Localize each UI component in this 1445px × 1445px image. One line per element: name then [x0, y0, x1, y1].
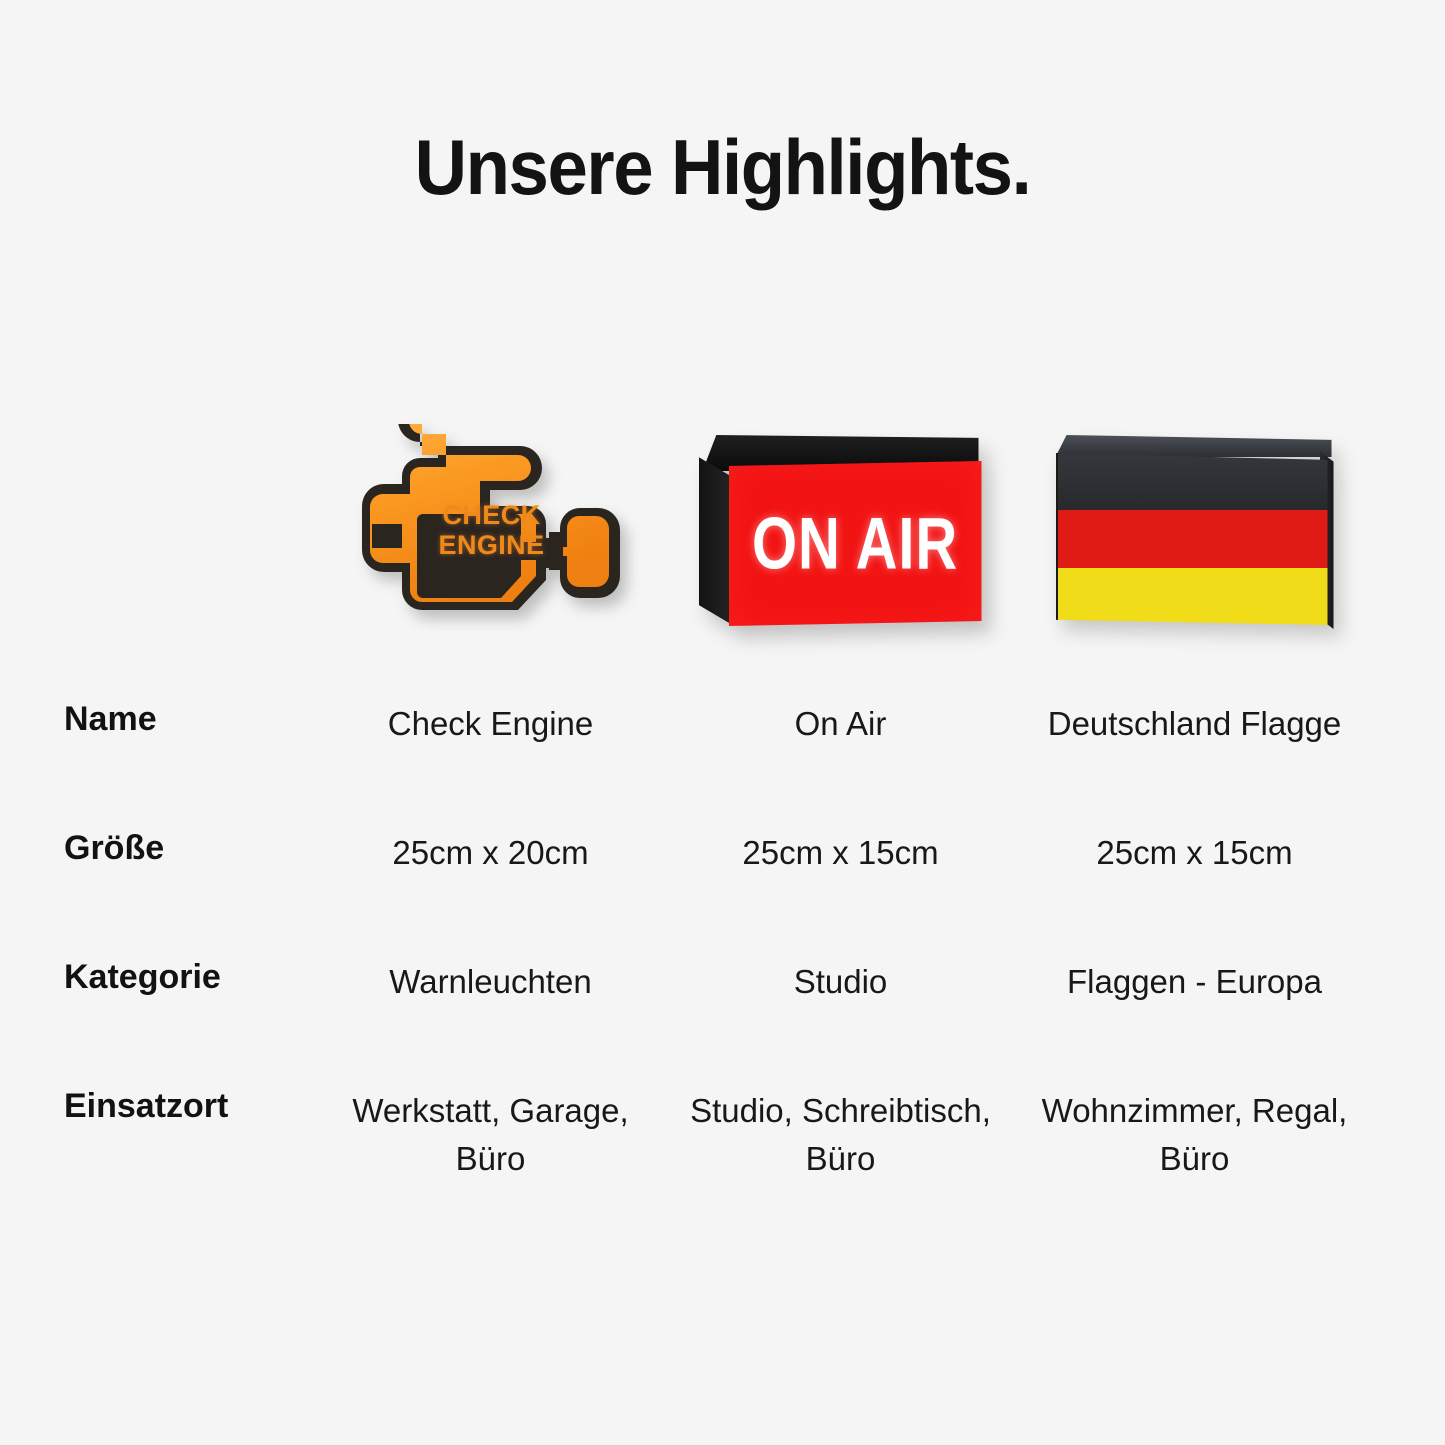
cell-groesse-on-air: 25cm x 15cm [668, 829, 1013, 877]
product-image-check-engine[interactable]: CHECK ENGINE [318, 410, 663, 660]
cell-einsatzort-check-engine: Werkstatt, Garage, Büro [318, 1087, 663, 1183]
check-engine-lamp-icon: CHECK ENGINE [342, 424, 640, 646]
cell-name-deutschland-flagge: Deutschland Flagge [1022, 700, 1367, 748]
row-label-groesse: Größe [64, 829, 164, 868]
table-row: Kategorie Warnleuchten Studio Flaggen - … [0, 958, 1445, 1087]
on-air-label: ON AIR [752, 502, 958, 586]
page-title: Unsere Highlights. [51, 128, 1395, 206]
flag-band-red [1058, 510, 1328, 567]
table-row: Name Check Engine On Air Deutschland Fla… [0, 700, 1445, 829]
product-image-row: CHECK ENGINE ON AIR [0, 410, 1445, 660]
germany-flag-lightbox-icon [1050, 435, 1340, 635]
product-image-on-air[interactable]: ON AIR [668, 410, 1013, 660]
cell-kategorie-on-air: Studio [668, 958, 1013, 1006]
cell-einsatzort-on-air: Studio, Schreibtisch, Büro [668, 1087, 1013, 1183]
flag-box-top [1056, 435, 1332, 457]
table-row: Einsatzort Werkstatt, Garage, Büro Studi… [0, 1087, 1445, 1216]
on-air-lightbox-icon: ON AIR [691, 435, 991, 635]
cell-kategorie-check-engine: Warnleuchten [318, 958, 663, 1006]
flag-band-gold [1058, 568, 1328, 625]
row-label-einsatzort: Einsatzort [64, 1087, 228, 1126]
flag-box-face [1056, 453, 1328, 625]
cell-groesse-deutschland-flagge: 25cm x 15cm [1022, 829, 1367, 877]
row-label-kategorie: Kategorie [64, 958, 221, 997]
on-air-box-side [699, 457, 733, 625]
check-engine-outline [342, 424, 640, 646]
cell-groesse-check-engine: 25cm x 20cm [318, 829, 663, 877]
flag-band-black [1058, 453, 1328, 510]
cell-name-on-air: On Air [668, 700, 1013, 748]
row-label-name: Name [64, 700, 157, 739]
spec-table: Name Check Engine On Air Deutschland Fla… [0, 700, 1445, 1216]
cell-einsatzort-deutschland-flagge: Wohnzimmer, Regal, Büro [1022, 1087, 1367, 1183]
on-air-box-face: ON AIR [729, 461, 982, 626]
cell-name-check-engine: Check Engine [318, 700, 663, 748]
table-row: Größe 25cm x 20cm 25cm x 15cm 25cm x 15c… [0, 829, 1445, 958]
cell-kategorie-deutschland-flagge: Flaggen - Europa [1022, 958, 1367, 1006]
product-image-deutschland-flagge[interactable] [1022, 410, 1367, 660]
